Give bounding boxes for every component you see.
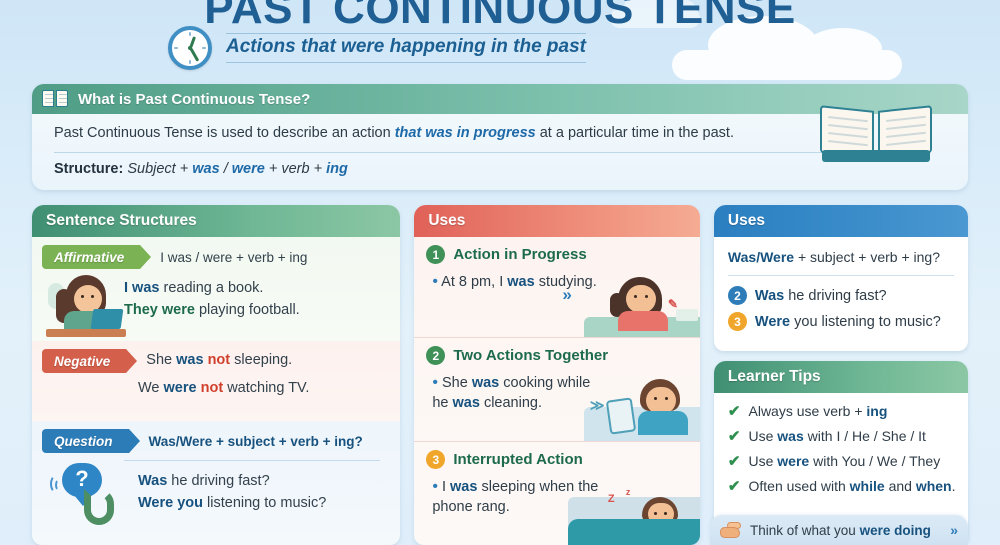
learner-tip-2-post: with I / He / She / It <box>804 428 926 444</box>
right-column: Uses Was/Were + subject + verb + ing? 2 … <box>714 205 968 545</box>
use-item-2-line: • She was cooking while he was cleaning. <box>432 372 597 413</box>
question-tag: Question <box>42 429 129 453</box>
use-item-2-bold: was <box>472 375 499 391</box>
question-examples: Was he driving fast? Were you listening … <box>138 471 400 515</box>
negative-example-2-bold: were <box>164 380 197 396</box>
uses-right-item-1-text: Was he driving fast? <box>755 288 887 304</box>
learner-tip-3-bold: were <box>777 453 809 469</box>
use-item-1: 1 Action in Progress • At 8 pm, I was st… <box>414 237 700 337</box>
uses-right-item-2-text: Were you listening to music? <box>755 314 941 330</box>
learner-tip-1-pre: Always use verb + <box>749 403 867 419</box>
use-item-3-title-row: 3 Interrupted Action <box>426 450 690 469</box>
what-is-description: Past Continuous Tense is used to describ… <box>54 124 844 153</box>
uses-right-body: Was/Were + subject + verb + ing? 2 Was h… <box>714 237 968 331</box>
use-item-3-pre: I <box>442 479 450 495</box>
use-item-3: 3 Interrupted Action • I was sleeping wh… <box>414 441 700 545</box>
structure-plus-1: + <box>180 161 188 177</box>
uses-right-item-2-bold: Were <box>755 314 790 330</box>
check-icon: ✔ <box>728 453 741 471</box>
learner-tip-3-post: with You / We / They <box>809 453 940 469</box>
affirmative-examples: I was reading a book. They were playing … <box>124 278 400 322</box>
uses-right-item-1: 2 Was he driving fast? <box>728 286 954 305</box>
page-header: PAST CONTINUOUS TENSE Actions that were … <box>0 0 1000 78</box>
learner-tips-footer: Think of what you were doing » <box>710 515 968 545</box>
affirmative-example-1-rest: reading a book. <box>159 280 263 296</box>
negative-tag: Negative <box>42 349 126 373</box>
uses-right-formula: Was/Were + subject + verb + ing? <box>728 249 954 265</box>
uses-right-header: Uses <box>714 205 968 237</box>
uses-right-formula-bold: Was/Were <box>728 249 794 265</box>
use-item-3-bold: was <box>450 479 477 495</box>
structure-label: Structure: <box>54 161 123 177</box>
structure-subject: Subject <box>127 161 175 177</box>
use-item-2-bold2: was <box>453 395 480 411</box>
use-item-3-badge: 3 <box>426 450 445 469</box>
learner-tip-4-bold2: when <box>916 478 952 494</box>
affirmative-example-1: I was reading a book. <box>124 278 400 300</box>
open-book-illustration <box>820 102 932 164</box>
girl-studying-illustration: ✎ <box>584 275 700 337</box>
question-example-2-bold: Were you <box>138 495 203 511</box>
description-before: Past Continuous Tense is used to describ… <box>54 125 395 141</box>
uses-right-formula-rest: + subject + verb + ing? <box>794 249 940 265</box>
check-icon: ✔ <box>728 403 741 421</box>
learner-tips-header: Learner Tips <box>714 361 968 393</box>
use-item-1-title-row: 1 Action in Progress <box>426 245 690 264</box>
page-subtitle: Actions that were happening in the past <box>226 33 586 63</box>
negative-example-2: We were not watching TV. <box>138 378 400 400</box>
learner-tip-4-text: Often used with while and when. <box>749 478 956 494</box>
use-item-3-title: Interrupted Action <box>453 451 582 468</box>
footer-bold: were doing <box>860 523 931 538</box>
learner-tip-3-text: Use were with You / We / They <box>749 453 941 469</box>
learner-tip-4-pre: Often used with <box>749 478 850 494</box>
question-example-1-rest: he driving fast? <box>167 473 269 489</box>
negative-block: Negative She was not sleeping. We were n… <box>32 341 400 421</box>
pointing-hand-icon <box>720 522 742 538</box>
structure-verb: verb <box>281 161 309 177</box>
phone-handset-icon <box>84 489 114 525</box>
open-book-icon <box>42 89 68 109</box>
learner-tip-4-bold: while <box>850 478 885 494</box>
uses-middle-column: Uses 1 Action in Progress • At 8 pm, I w… <box>414 205 700 545</box>
affirmative-example-2: They were playing football. <box>124 300 400 322</box>
negative-example-1-neg: not <box>208 352 231 368</box>
use-item-2-badge: 2 <box>426 346 445 365</box>
quote-icon: » <box>950 522 958 538</box>
use-item-1-bold: was <box>507 274 534 290</box>
subtitle-row: Actions that were happening in the past <box>168 26 586 70</box>
use-item-1-pre: At 8 pm, I <box>441 274 507 290</box>
uses-right-divider <box>728 275 954 276</box>
learner-tip-2-text: Use was with I / He / She / It <box>749 428 926 444</box>
chevron-right-icon: » <box>562 285 571 305</box>
learner-tips-footer-text: Think of what you were doing <box>750 523 931 538</box>
uses-right-item-2-rest: you listening to music? <box>790 314 941 330</box>
affirmative-formula: I was / were + verb + ing <box>160 250 307 265</box>
uses-right-item-2-badge: 3 <box>728 312 747 331</box>
negative-example-2-pre: We <box>138 380 164 396</box>
sentence-structures-panel: Sentence Structures Affirmative I was / … <box>32 205 400 545</box>
uses-right-item-1-rest: he driving fast? <box>784 288 886 304</box>
learner-tip-4: ✔ Often used with while and when. <box>728 478 958 496</box>
negative-tag-row: Negative She was not sleeping. <box>42 348 400 374</box>
girl-with-laptop-illustration <box>46 273 126 337</box>
structure-was: was <box>192 161 219 177</box>
negative-example-1-bold: was <box>176 352 203 368</box>
use-item-2-title-row: 2 Two Actions Together <box>426 346 690 365</box>
negative-example-2-neg: not <box>201 380 224 396</box>
learner-tip-4-post: and <box>885 478 916 494</box>
uses-middle-header: Uses <box>414 205 700 237</box>
uses-right-panel: Uses Was/Were + subject + verb + ing? 2 … <box>714 205 968 351</box>
learner-tip-1-bold: ing <box>866 403 887 419</box>
description-highlight: that was in progress <box>395 125 536 141</box>
question-speech-illustration: ? <box>48 461 124 525</box>
structure-plus-2: + <box>269 161 277 177</box>
learner-tip-3-pre: Use <box>749 453 778 469</box>
use-item-1-badge: 1 <box>426 245 445 264</box>
structure-plus-3: + <box>314 161 322 177</box>
negative-example-1-rest: sleeping. <box>230 352 292 368</box>
learner-tip-4-post2: . <box>952 478 956 494</box>
what-is-heading: What is Past Continuous Tense? <box>78 91 310 108</box>
use-item-2-post2: cleaning. <box>480 395 542 411</box>
learner-tip-1: ✔ Always use verb + ing <box>728 403 958 421</box>
question-tag-row: Question Was/Were + subject + verb + ing… <box>42 428 400 454</box>
check-icon: ✔ <box>728 478 741 496</box>
check-icon: ✔ <box>728 428 741 446</box>
question-block: Question Was/Were + subject + verb + ing… <box>32 421 400 533</box>
use-item-2: 2 Two Actions Together • She was cooking… <box>414 337 700 441</box>
uses-middle-panel: Uses 1 Action in Progress • At 8 pm, I w… <box>414 205 700 545</box>
uses-right-item-1-bold: Was <box>755 288 784 304</box>
learner-tip-2: ✔ Use was with I / He / She / It <box>728 428 958 446</box>
question-divider <box>124 460 380 461</box>
learner-tip-2-bold: was <box>777 428 803 444</box>
affirmative-example-2-bold: They were <box>124 302 195 318</box>
structure-row: Structure: Subject + was / were + verb +… <box>54 153 946 177</box>
negative-example-1: She was not sleeping. <box>146 350 292 372</box>
question-example-2: Were you listening to music? <box>138 493 400 515</box>
negative-example-2-rest: watching TV. <box>223 380 309 396</box>
question-example-1: Was he driving fast? <box>138 471 400 493</box>
learner-tip-2-pre: Use <box>749 428 778 444</box>
columns-container: Sentence Structures Affirmative I was / … <box>32 205 968 545</box>
question-example-2-rest: listening to music? <box>203 495 326 511</box>
affirmative-block: Affirmative I was / were + verb + ing I … <box>32 237 400 341</box>
boy-sleeping-illustration: Zz <box>568 487 700 545</box>
affirmative-tag-row: Affirmative I was / were + verb + ing <box>42 244 400 270</box>
boy-with-phone-illustration: ≫ <box>584 377 700 441</box>
uses-right-item-1-badge: 2 <box>728 286 747 305</box>
what-is-panel: What is Past Continuous Tense? Past Cont… <box>32 84 968 190</box>
description-after: at a particular time in the past. <box>536 125 734 141</box>
affirmative-example-1-bold: I was <box>124 280 159 296</box>
footer-pre: Think of what you <box>750 523 860 538</box>
uses-right-item-2: 3 Were you listening to music? <box>728 312 954 331</box>
clock-icon <box>168 26 212 70</box>
structure-slash: / <box>224 161 228 177</box>
learner-tip-1-text: Always use verb + ing <box>749 403 888 419</box>
structure-ing: ing <box>326 161 348 177</box>
question-formula: Was/Were + subject + verb + ing? <box>149 434 363 449</box>
affirmative-example-2-rest: playing football. <box>195 302 300 318</box>
sentence-structures-header: Sentence Structures <box>32 205 400 237</box>
use-item-2-pre: She <box>442 375 472 391</box>
use-item-2-title: Two Actions Together <box>453 347 608 364</box>
structure-were: were <box>232 161 265 177</box>
learner-tip-3: ✔ Use were with You / We / They <box>728 453 958 471</box>
sentence-structures-column: Sentence Structures Affirmative I was / … <box>32 205 400 545</box>
use-item-1-title: Action in Progress <box>453 246 586 263</box>
affirmative-tag: Affirmative <box>42 245 140 269</box>
question-example-1-bold: Was <box>138 473 167 489</box>
negative-example-1-pre: She <box>146 352 176 368</box>
